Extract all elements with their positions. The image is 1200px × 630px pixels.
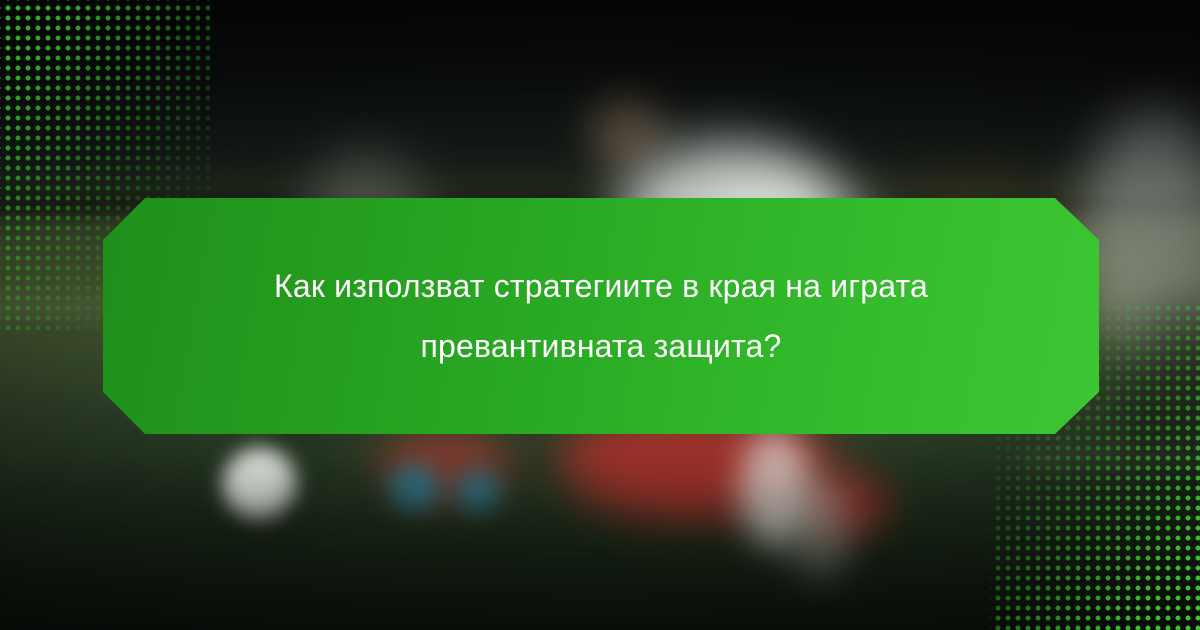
page-title-line-1: Как използват стратегиите в края на игра… (171, 256, 1031, 316)
title-banner: Как използват стратегиите в края на игра… (103, 198, 1099, 434)
title-banner-content: Как използват стратегиите в края на игра… (171, 256, 1031, 376)
social-card: Как използват стратегиите в края на игра… (0, 0, 1200, 630)
page-title-line-2: превантивната защита? (171, 316, 1031, 376)
